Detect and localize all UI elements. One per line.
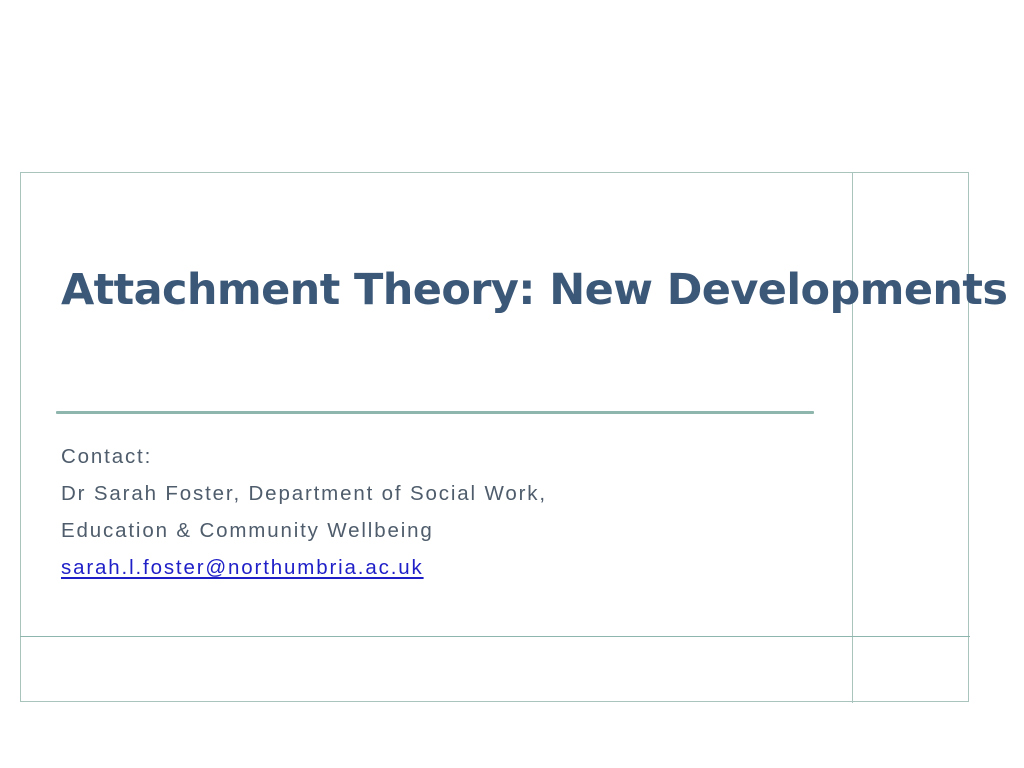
- contact-email-link[interactable]: sarah.l.foster@northumbria.ac.uk: [61, 549, 424, 586]
- slide-canvas: Attachment Theory: New Developments Cont…: [0, 0, 1024, 768]
- contact-name-department: Dr Sarah Foster, Department of Social Wo…: [61, 475, 821, 512]
- page-title: Attachment Theory: New Developments: [61, 268, 851, 313]
- contact-block: Contact: Dr Sarah Foster, Department of …: [61, 438, 821, 586]
- slide-frame-horizontal-divider: [20, 636, 970, 637]
- contact-department-continued: Education & Community Wellbeing: [61, 512, 821, 549]
- title-underline-rule: [56, 411, 814, 414]
- contact-heading: Contact:: [61, 438, 821, 475]
- slide-frame-outer: [20, 172, 969, 702]
- slide-frame-vertical-divider: [852, 172, 853, 703]
